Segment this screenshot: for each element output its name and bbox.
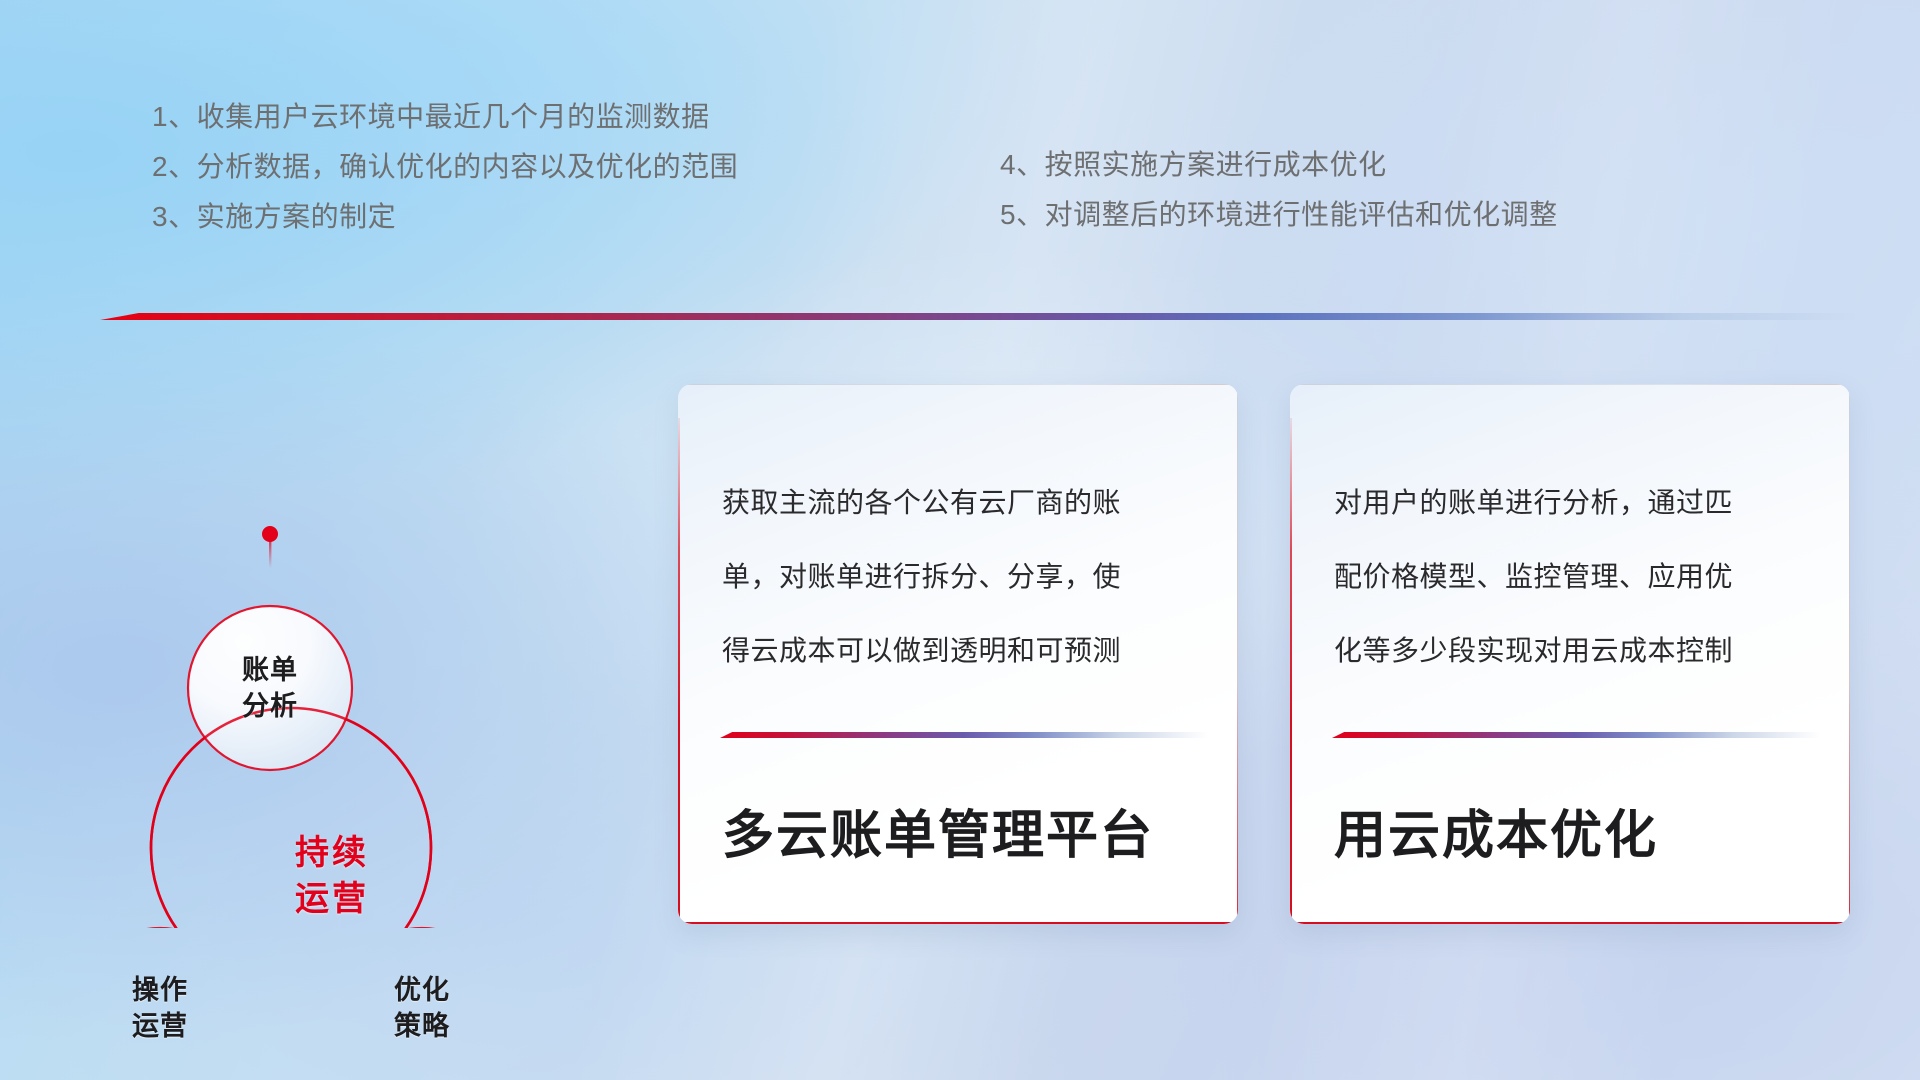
venn-lobe-bill-analysis-line2: 分析 <box>242 688 298 724</box>
venn-lobe-operations: 操作 运营 <box>132 972 188 1044</box>
card-description-line1: 对用户的账单进行分析，通过匹 <box>1334 466 1814 540</box>
card-bottom-border <box>1290 922 1850 924</box>
venn-center-label-line2: 运营 <box>295 876 369 922</box>
venn-lobe-optimization-strategy-line2: 策略 <box>394 1008 450 1044</box>
card-title: 用云成本优化 <box>1334 804 1820 868</box>
card-top-border <box>678 384 1238 385</box>
venn-lobe-bill-analysis: 账单 分析 <box>242 652 298 724</box>
venn-lobe-operations-line1: 操作 <box>132 972 188 1008</box>
card-accent-rule <box>1332 732 1820 738</box>
venn-center-label-line1: 持续 <box>295 830 369 876</box>
card-description-line2: 单，对账单进行拆分、分享，使 <box>722 540 1202 614</box>
section-divider <box>100 313 1860 320</box>
feature-card-multicloud-billing[interactable]: 获取主流的各个公有云厂商的账 单，对账单进行拆分、分享，使 得云成本可以做到透明… <box>678 384 1238 924</box>
step-item-4: 4、按照实施方案进行成本优化 <box>1000 140 1558 190</box>
card-accent-rule <box>720 732 1208 738</box>
card-left-border <box>678 418 680 924</box>
card-description-line1: 获取主流的各个公有云厂商的账 <box>722 466 1202 540</box>
card-top-border <box>1290 384 1850 385</box>
card-description: 对用户的账单进行分析，通过匹 配价格模型、监控管理、应用优 化等多少段实现对用云… <box>1334 466 1814 688</box>
card-description-line3: 得云成本可以做到透明和可预测 <box>722 614 1202 688</box>
step-item-1: 1、收集用户云环境中最近几个月的监测数据 <box>152 92 738 142</box>
card-bottom-border <box>678 922 1238 924</box>
step-item-3: 3、实施方案的制定 <box>152 192 738 242</box>
venn-lobe-bill-analysis-line1: 账单 <box>242 652 298 688</box>
steps-list-left: 1、收集用户云环境中最近几个月的监测数据 2、分析数据，确认优化的内容以及优化的… <box>152 92 738 242</box>
feature-card-cloud-cost-optimization[interactable]: 对用户的账单进行分析，通过匹 配价格模型、监控管理、应用优 化等多少段实现对用云… <box>1290 384 1850 924</box>
card-description: 获取主流的各个公有云厂商的账 单，对账单进行拆分、分享，使 得云成本可以做到透明… <box>722 466 1202 688</box>
venn-lobe-operations-line2: 运营 <box>132 1008 188 1044</box>
step-item-2: 2、分析数据，确认优化的内容以及优化的范围 <box>152 142 738 192</box>
card-right-border <box>1237 384 1238 924</box>
venn-diagram: 账单 分析 操作 运营 优化 策略 持续 运营 <box>100 348 680 928</box>
step-item-5: 5、对调整后的环境进行性能评估和优化调整 <box>1000 190 1558 240</box>
slide-canvas: 1、收集用户云环境中最近几个月的监测数据 2、分析数据，确认优化的内容以及优化的… <box>0 0 1920 1080</box>
card-description-line3: 化等多少段实现对用云成本控制 <box>1334 614 1814 688</box>
card-description-line2: 配价格模型、监控管理、应用优 <box>1334 540 1814 614</box>
venn-lobe-optimization-strategy: 优化 策略 <box>394 972 450 1044</box>
card-left-border <box>1290 418 1292 924</box>
venn-center-label: 持续 运营 <box>295 830 369 922</box>
card-title: 多云账单管理平台 <box>722 804 1208 868</box>
divider-bar <box>100 313 1860 320</box>
card-right-border <box>1849 384 1850 924</box>
venn-lobe-optimization-strategy-line1: 优化 <box>394 972 450 1008</box>
steps-list-right: 4、按照实施方案进行成本优化 5、对调整后的环境进行性能评估和优化调整 <box>1000 140 1558 240</box>
